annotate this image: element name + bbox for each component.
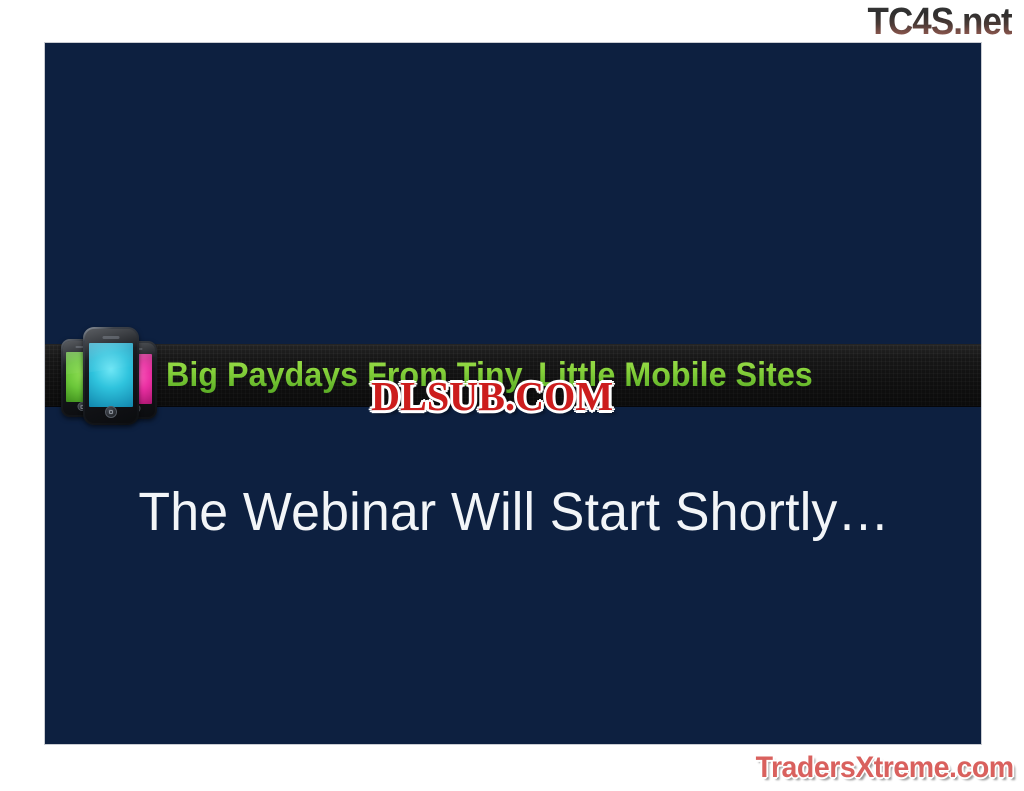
- phone-body: [85, 329, 137, 423]
- dlsub-watermark: DLSUB.COM: [371, 374, 613, 418]
- tradersxtreme-watermark: TradersXtreme.com: [756, 751, 1014, 785]
- phones-illustration: [57, 327, 165, 425]
- phone-screen: [89, 343, 133, 407]
- presentation-slide: Big Paydays From Tiny, Little Mobile Sit…: [44, 42, 982, 745]
- slide-headline: The Webinar Will Start Shortly…: [64, 481, 964, 543]
- cyan-phone-icon: [83, 327, 139, 425]
- tc4s-watermark: TC4S.net: [868, 2, 1012, 42]
- phone-home-button-icon: [105, 406, 117, 418]
- phone-speaker-icon: [103, 336, 120, 339]
